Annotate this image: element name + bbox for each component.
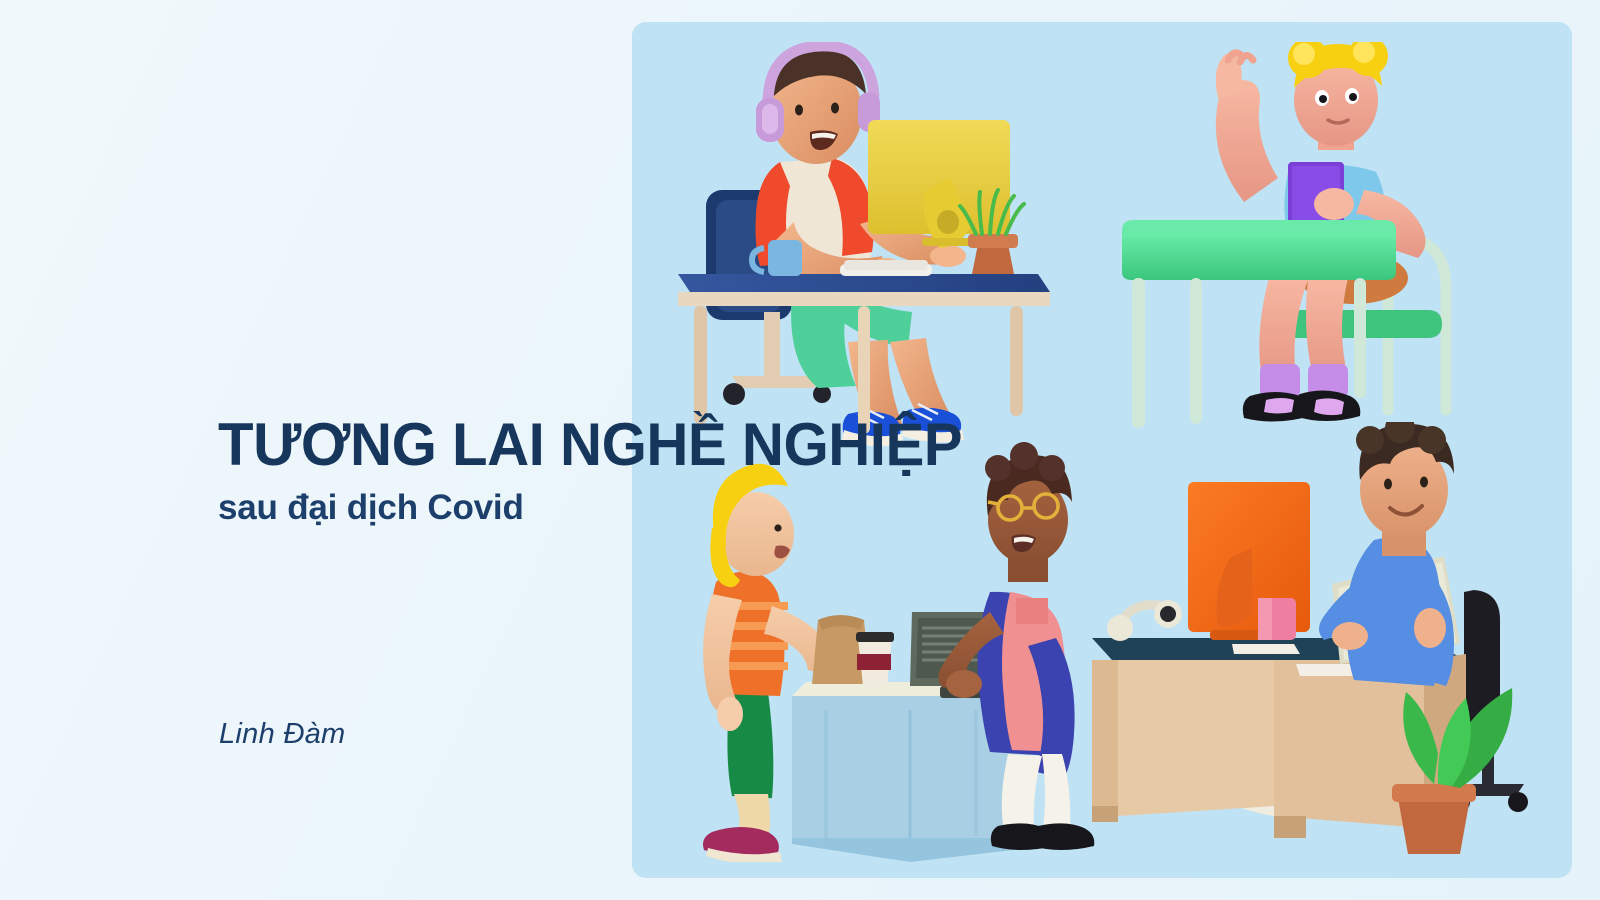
illustration-remote-worker xyxy=(672,42,1092,452)
desk-shape xyxy=(678,274,1050,434)
head-shape xyxy=(1288,42,1388,150)
slide-canvas: TƯƠNG LAI NGHỀ NGHIỆP sau đại dịch Covid… xyxy=(0,0,1600,900)
illustration-office-worker xyxy=(1082,422,1542,862)
author-name: Linh Đàm xyxy=(219,718,346,751)
headphones-shape xyxy=(1107,600,1182,641)
head-shape xyxy=(1356,422,1454,556)
page-subtitle: sau đại dịch Covid xyxy=(218,489,1018,528)
illustration-student xyxy=(1102,42,1532,462)
head-shape xyxy=(770,50,866,164)
mary-jane-shoes-shape xyxy=(1243,390,1360,421)
title-block: TƯƠNG LAI NGHỀ NGHIỆP sau đại dịch Covid xyxy=(218,414,1018,528)
mug-shape xyxy=(1258,598,1296,640)
page-title: TƯƠNG LAI NGHỀ NGHIỆP xyxy=(218,414,994,475)
